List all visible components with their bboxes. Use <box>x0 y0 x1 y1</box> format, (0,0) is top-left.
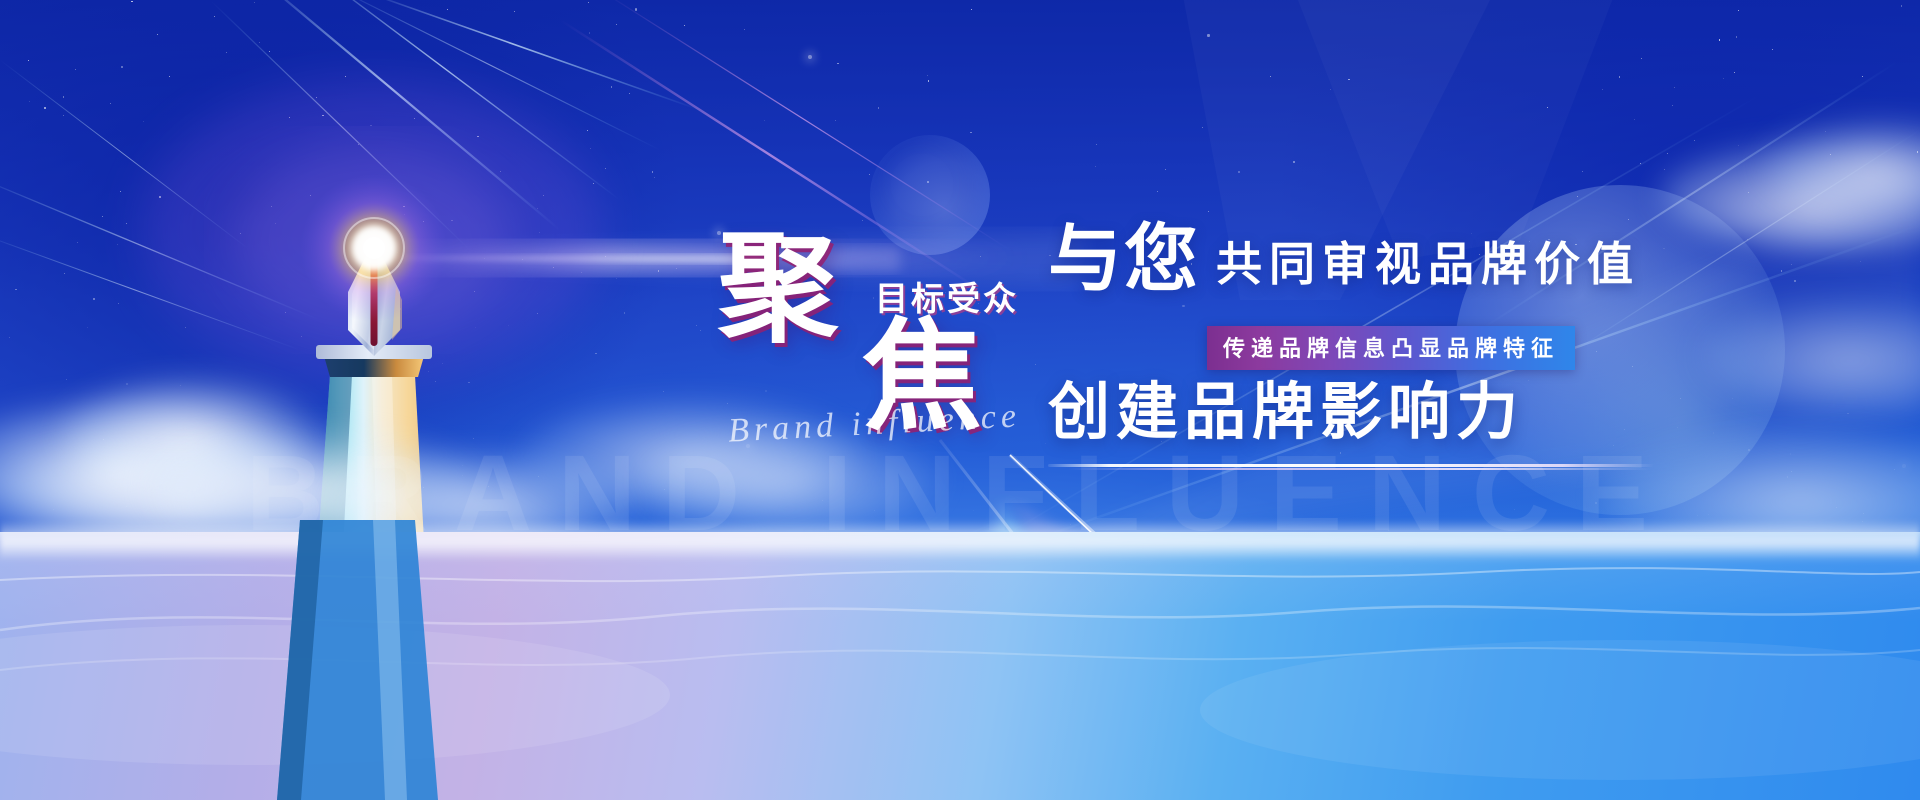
banner-canvas: BRAND INFLUENCE 聚 焦 目标受众 Brand influence… <box>0 0 1920 800</box>
headline-char-ju: 聚 <box>718 230 838 350</box>
audience-tag: 目标受众 <box>875 272 1019 320</box>
value-proposition-text: 共同审视品牌价值 <box>1216 239 1640 296</box>
status-badge: 传递品牌信息凸显品牌特征 <box>1207 326 1575 370</box>
with-you-text: 与您 <box>1048 222 1200 296</box>
headline-copy-group: 聚 焦 目标受众 Brand influence 与您 共同审视品牌价值 传递品… <box>0 0 1920 800</box>
divider-rule <box>1048 462 1654 470</box>
headline-line-one: 与您 共同审视品牌价值 <box>1048 222 1640 296</box>
influence-headline: 创建品牌影响力 <box>1048 382 1524 444</box>
